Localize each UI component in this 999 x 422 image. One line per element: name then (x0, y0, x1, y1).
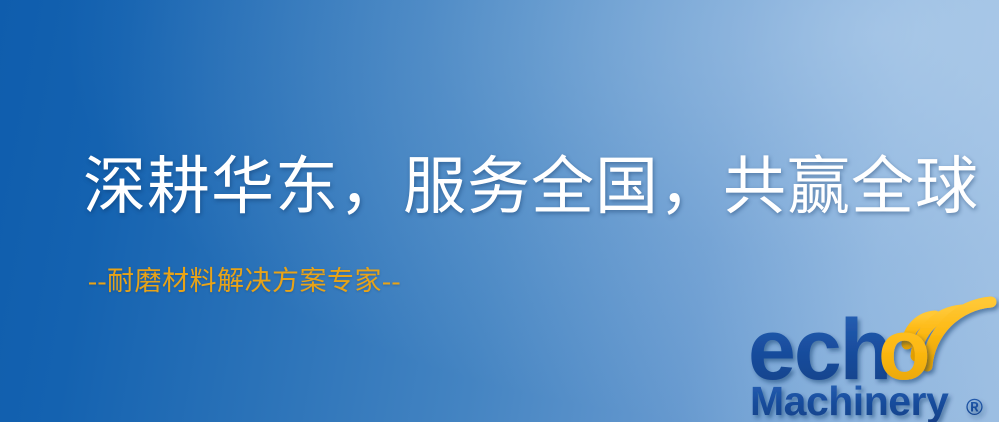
brand-logo[interactable]: ech o Machinery ® (748, 296, 999, 422)
hero-banner: 深耕华东，服务全国，共赢全球 --耐磨材料解决方案专家-- (0, 0, 999, 422)
page-title: 深耕华东，服务全国，共赢全球 (83, 150, 953, 224)
registered-trademark-icon: ® (966, 394, 983, 420)
logo-svg: ech o Machinery ® (748, 296, 999, 422)
page-subtitle: --耐磨材料解决方案专家-- (88, 264, 401, 298)
wordmark-machinery: Machinery ® (750, 378, 983, 422)
echo-machinery-logo-mark: ech o Machinery ® (748, 296, 999, 422)
wordmark-machinery-text: Machinery (750, 378, 949, 422)
